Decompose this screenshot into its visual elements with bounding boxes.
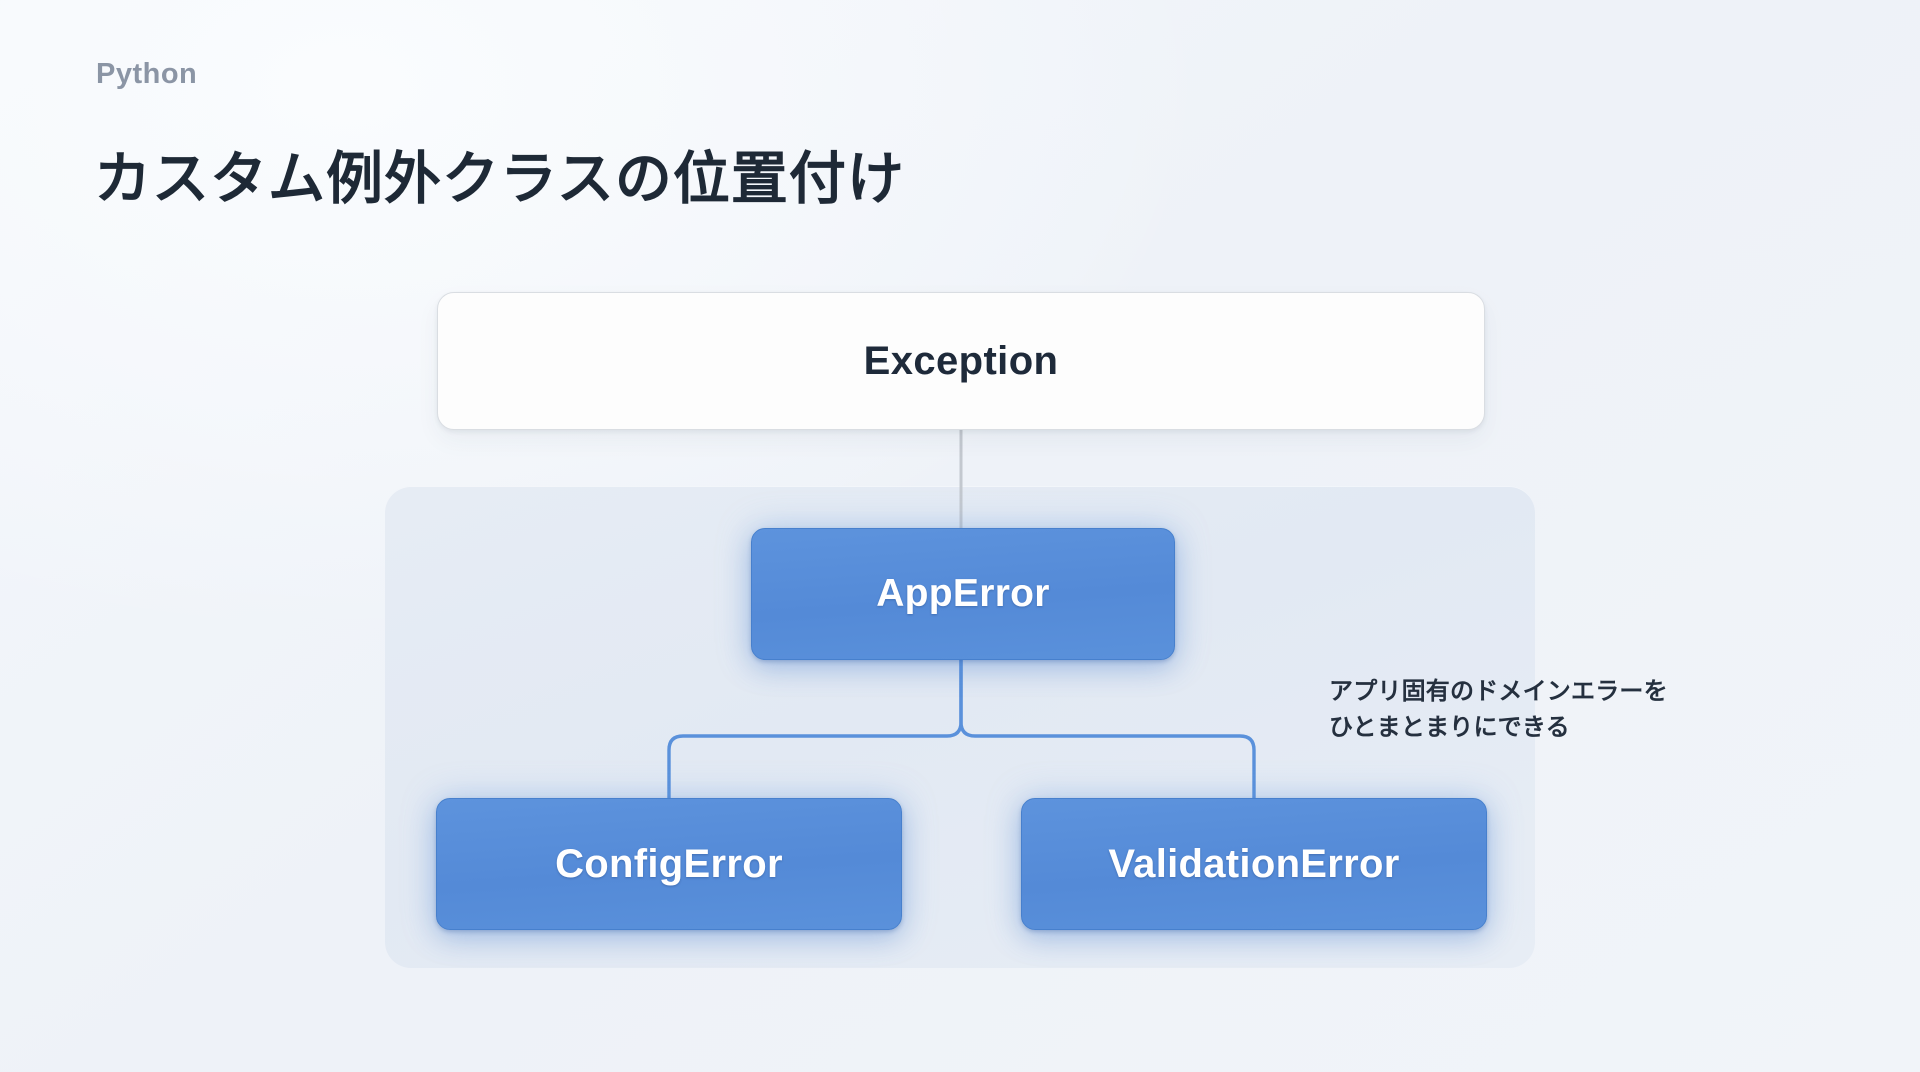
node-apperror-label: AppError <box>876 572 1050 616</box>
annotation-line-2: ひとまとまりにできる <box>1329 710 1759 746</box>
class-hierarchy-diagram: Exception AppError ConfigError Validatio… <box>0 0 1920 1072</box>
node-validationerror[interactable]: ValidationError <box>1021 798 1487 930</box>
node-configerror[interactable]: ConfigError <box>436 798 902 930</box>
slide-canvas: Python カスタム例外クラスの位置付け Exception AppError… <box>0 0 1920 1072</box>
annotation-line-1: アプリ固有のドメインエラーを <box>1329 674 1759 710</box>
annotation-callout: アプリ固有のドメインエラーを ひとまとまりにできる <box>1329 674 1759 747</box>
node-validationerror-label: ValidationError <box>1108 842 1399 887</box>
node-apperror[interactable]: AppError <box>751 528 1175 660</box>
node-configerror-label: ConfigError <box>555 842 783 887</box>
node-exception-label: Exception <box>864 339 1059 384</box>
node-exception[interactable]: Exception <box>437 292 1485 430</box>
